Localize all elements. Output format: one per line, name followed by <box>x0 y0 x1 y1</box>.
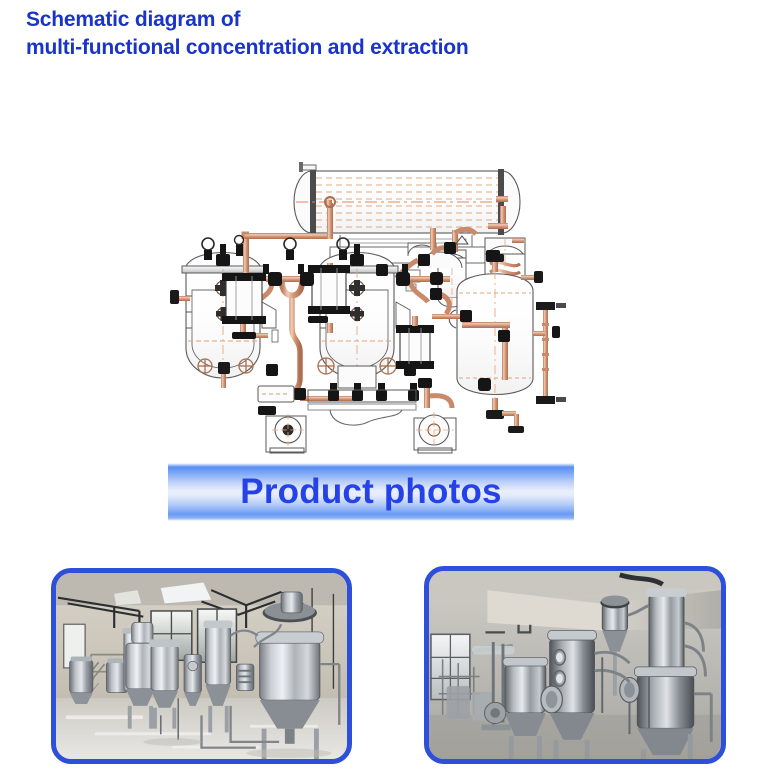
product-photo-left-image <box>56 573 347 759</box>
pump-1 <box>258 406 306 453</box>
schematic-diagram <box>0 78 780 456</box>
page-title: Schematic diagram of multi-functional co… <box>26 6 726 62</box>
product-photo-left[interactable] <box>51 568 352 764</box>
sight-glass-right <box>396 316 434 369</box>
product-photos-banner: Product photos <box>168 463 574 521</box>
product-photo-right[interactable] <box>424 566 726 764</box>
page-root: Schematic diagram of multi-functional co… <box>0 0 780 780</box>
page-title-line-2: multi-functional concentration and extra… <box>26 34 726 62</box>
product-photos-label: Product photos <box>240 472 501 512</box>
page-title-line-1: Schematic diagram of <box>26 6 726 34</box>
product-photo-right-image <box>429 571 721 759</box>
pump-2 <box>414 378 456 453</box>
